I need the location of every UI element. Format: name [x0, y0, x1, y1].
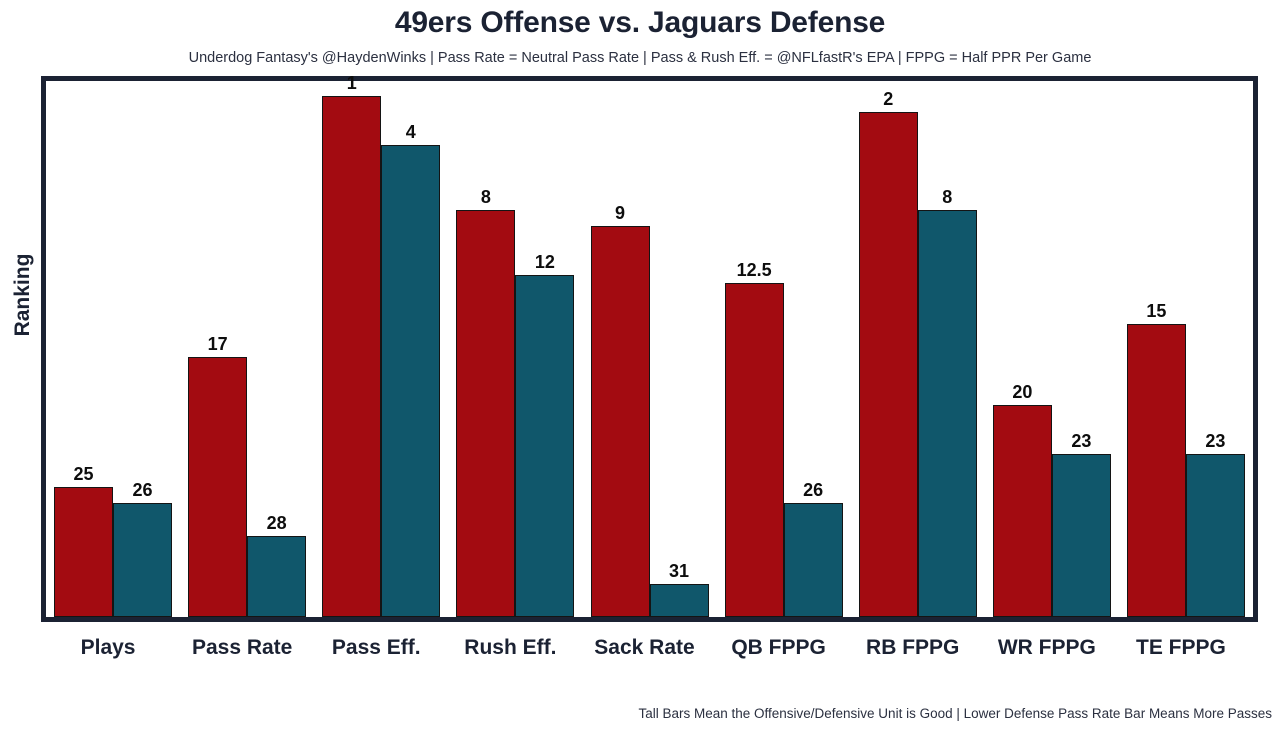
x-tick-label: TE FPPG: [1081, 636, 1280, 660]
bar-offense[interactable]: [591, 226, 650, 617]
bar-value-label: 9: [560, 203, 680, 223]
bar-defense[interactable]: [1186, 454, 1245, 617]
bar-value-label: 28: [217, 513, 337, 533]
bar-group: 12.526: [725, 81, 843, 617]
chart-root: 49ers Offense vs. Jaguars Defense Underd…: [0, 0, 1280, 733]
bar-offense[interactable]: [188, 357, 247, 618]
chart-subtitle: Underdog Fantasy's @HaydenWinks | Pass R…: [0, 48, 1280, 68]
bar-value-label: 12.5: [694, 260, 814, 280]
x-axis: PlaysPass RatePass Eff.Rush Eff.Sack Rat…: [41, 628, 1258, 668]
bar-offense[interactable]: [322, 96, 381, 617]
bar-value-label: 2: [828, 89, 948, 109]
bar-value-label: 8: [426, 187, 546, 207]
bar-value-label: 4: [351, 122, 471, 142]
bar-value-label: 1: [292, 73, 412, 93]
plot-frame: 252617281481293112.5262820231523: [41, 76, 1258, 622]
bar-defense[interactable]: [1052, 454, 1111, 617]
bar-group: 931: [591, 81, 709, 617]
bar-group: 2023: [993, 81, 1111, 617]
y-axis-label: Ranking: [11, 235, 35, 355]
bar-value-label: 12: [485, 252, 605, 272]
bar-offense[interactable]: [54, 487, 113, 617]
bar-group: 1523: [1127, 81, 1245, 617]
bar-value-label: 31: [619, 561, 739, 581]
bar-offense[interactable]: [725, 283, 784, 617]
bar-value-label: 23: [1155, 431, 1275, 451]
bar-defense[interactable]: [784, 503, 843, 617]
bar-group: 2526: [54, 81, 172, 617]
bar-value-label: 26: [753, 480, 873, 500]
bar-group: 14: [322, 81, 440, 617]
plot-area: 252617281481293112.5262820231523: [46, 81, 1253, 617]
bar-defense[interactable]: [515, 275, 574, 617]
bar-value-label: 20: [962, 382, 1082, 402]
page-title: 49ers Offense vs. Jaguars Defense: [0, 4, 1280, 42]
bar-defense[interactable]: [918, 210, 977, 617]
bar-group: 1728: [188, 81, 306, 617]
bar-defense[interactable]: [381, 145, 440, 617]
bar-offense[interactable]: [1127, 324, 1186, 617]
bar-value-label: 8: [887, 187, 1007, 207]
bar-value-label: 23: [1021, 431, 1141, 451]
bar-value-label: 17: [158, 334, 278, 354]
chart-footnote: Tall Bars Mean the Offensive/Defensive U…: [638, 705, 1272, 723]
bar-group: 812: [456, 81, 574, 617]
bar-defense[interactable]: [650, 584, 709, 617]
bar-value-label: 15: [1096, 301, 1216, 321]
bar-value-label: 26: [83, 480, 203, 500]
bar-defense[interactable]: [113, 503, 172, 617]
bar-defense[interactable]: [247, 536, 306, 617]
bar-group: 28: [859, 81, 977, 617]
